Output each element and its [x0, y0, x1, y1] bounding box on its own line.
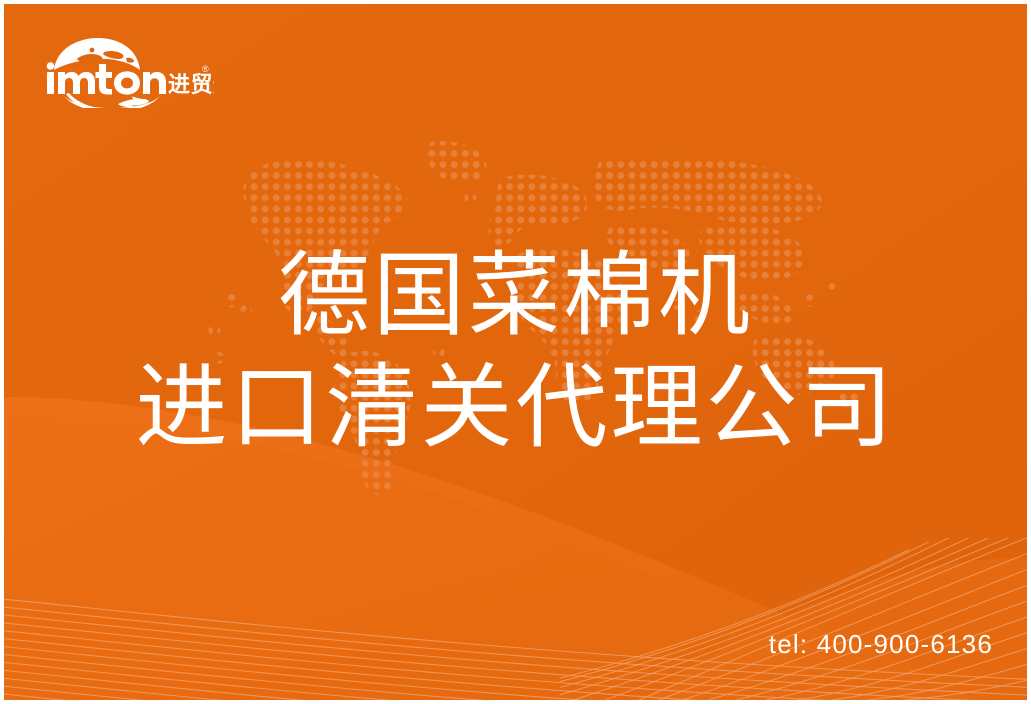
contact-phone[interactable]: tel: 400-900-6136: [769, 629, 993, 660]
company-logo[interactable]: 进贸通 ®: [42, 34, 214, 108]
wordmark-imton: [47, 62, 166, 94]
globe-arc-icon: [54, 38, 140, 70]
logo-chinese-name: 进贸通: [168, 73, 214, 98]
trademark-icon: ®: [202, 64, 209, 74]
curved-line-decoration: [4, 4, 1027, 700]
swoosh-arrow-icon: [64, 93, 160, 108]
promo-banner: 进贸通 ® 德国菜棉机 进口清关代理公司 tel: 400-900-6136: [0, 0, 1031, 704]
